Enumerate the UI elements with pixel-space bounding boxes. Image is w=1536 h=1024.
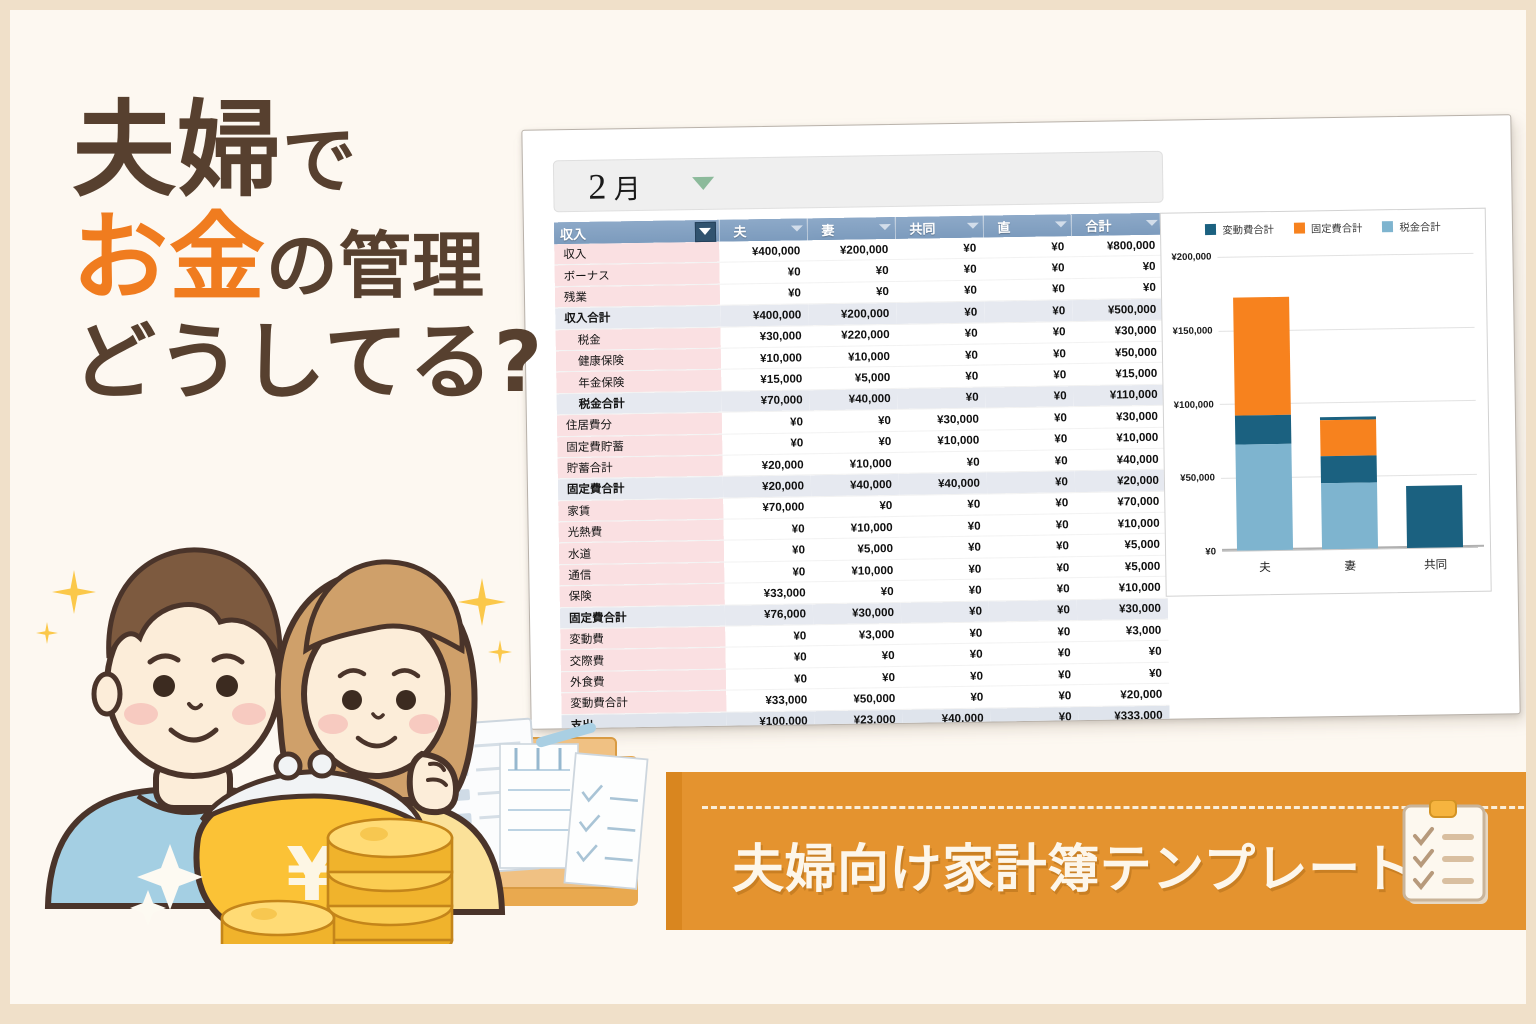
canvas-bottom-edge bbox=[10, 1004, 1526, 1014]
legend-label: 固定費合計 bbox=[1311, 220, 1363, 236]
table-cell-value: ¥3,000 bbox=[1077, 619, 1168, 642]
page-title: 夫婦で お金の管理 どうしてる? bbox=[72, 98, 612, 404]
table-header-cell-wife[interactable]: 妻 bbox=[807, 217, 895, 240]
poster-canvas: 夫婦で お金の管理 どうしてる? 2月 bbox=[10, 10, 1526, 1014]
chevron-down-icon[interactable] bbox=[1054, 221, 1066, 227]
chart-x-tick-label: 夫 bbox=[1259, 559, 1271, 575]
table-cell-value: ¥200,000 bbox=[807, 239, 895, 261]
legend-label: 税金合計 bbox=[1399, 218, 1440, 234]
table-cell-value: ¥15,000 bbox=[721, 368, 809, 391]
table-cell-value: ¥20,000 bbox=[1078, 683, 1169, 706]
table-cell-value: ¥0 bbox=[990, 685, 1078, 708]
table-cell-value: ¥0 bbox=[988, 578, 1076, 601]
table-header-cell-other[interactable]: 直 bbox=[983, 214, 1071, 237]
table-cell-value: ¥0 bbox=[983, 236, 1071, 258]
table-cell-value: ¥33,000 bbox=[726, 689, 814, 712]
table-cell-value: ¥5,000 bbox=[1076, 555, 1167, 578]
table-cell-value: ¥0 bbox=[984, 300, 1072, 323]
table-cell-value: ¥0 bbox=[899, 515, 987, 538]
table-cell-value: ¥400,000 bbox=[720, 304, 808, 327]
table-header-label: 直 bbox=[997, 220, 1010, 235]
table-cell-value: ¥10,000 bbox=[809, 345, 897, 368]
chart-x-tick-label: 妻 bbox=[1344, 558, 1356, 574]
legend-swatch-icon bbox=[1382, 221, 1393, 232]
table-cell-value: ¥0 bbox=[985, 364, 1073, 387]
chart-bar-segment bbox=[1321, 456, 1377, 483]
table-cell-value: ¥30,000 bbox=[1077, 598, 1168, 621]
table-cell-value: ¥0 bbox=[810, 431, 898, 454]
bottom-banner: 夫婦向け家計簿テンプレート bbox=[680, 772, 1526, 930]
table-cell-value: ¥0 bbox=[987, 492, 1075, 515]
table-cell-value: ¥10,000 bbox=[1075, 512, 1166, 535]
chart-y-tick-label: ¥50,000 bbox=[1180, 473, 1215, 485]
chart-bar-segment bbox=[1320, 419, 1377, 457]
table-cell-value: ¥0 bbox=[902, 686, 990, 709]
filter-icon[interactable] bbox=[694, 222, 715, 242]
table-cell-value: ¥30,000 bbox=[720, 325, 808, 348]
table-cell-value: ¥0 bbox=[989, 642, 1077, 665]
table-cell-value: ¥0 bbox=[989, 599, 1077, 622]
chart-bars: 夫妻共同 bbox=[1217, 253, 1478, 551]
table-cell-value: ¥0 bbox=[986, 407, 1074, 430]
table-cell-value: ¥400,000 bbox=[719, 240, 807, 262]
chart-legend: 変動費合計固定費合計税金合計 bbox=[1161, 218, 1485, 238]
table-cell-value: ¥5,000 bbox=[1076, 534, 1167, 557]
table-cell-value: ¥0 bbox=[900, 558, 988, 581]
headline-line2-accent: お金 bbox=[72, 202, 266, 314]
chart-bar-segment bbox=[1321, 482, 1378, 549]
table-cell-value: ¥70,000 bbox=[721, 390, 809, 413]
chevron-down-icon[interactable] bbox=[1145, 220, 1157, 226]
table-cell-value: ¥15,000 bbox=[1073, 363, 1164, 386]
table-cell-value: ¥0 bbox=[897, 344, 985, 367]
table-cell-value: ¥50,000 bbox=[814, 688, 902, 711]
table-cell-value: ¥0 bbox=[722, 411, 810, 434]
table-cell-value: ¥40,000 bbox=[1074, 448, 1165, 471]
table-cell-value: ¥0 bbox=[985, 343, 1073, 366]
table-cell-value: ¥0 bbox=[986, 428, 1074, 451]
month-selector[interactable]: 2月 bbox=[553, 151, 1164, 213]
table-cell-value: ¥0 bbox=[990, 663, 1078, 686]
chart-y-tick-label: ¥0 bbox=[1205, 546, 1216, 557]
table-cell-value: ¥0 bbox=[724, 561, 812, 584]
table-cell-value: ¥40,000 bbox=[899, 472, 987, 495]
table-cell-value: ¥0 bbox=[899, 494, 987, 517]
legend-swatch-icon bbox=[1294, 223, 1305, 234]
table-header-cell-total[interactable]: 合計 bbox=[1071, 213, 1162, 236]
banner-title: 夫婦向け家計簿テンプレート bbox=[732, 827, 1413, 902]
chart-bar-segment bbox=[1233, 297, 1291, 415]
legend-swatch-icon bbox=[1205, 224, 1216, 235]
table-cell-value: ¥0 bbox=[984, 321, 1072, 344]
expense-chart: 変動費合計固定費合計税金合計 ¥0¥50,000¥100,000¥150,000… bbox=[1160, 208, 1492, 597]
table-cell-value: ¥30,000 bbox=[1074, 405, 1165, 428]
table-cell-value: ¥500,000 bbox=[1072, 298, 1163, 321]
chart-bar-column[interactable]: 妻 bbox=[1317, 254, 1378, 549]
headline-line2-rest: の管理 bbox=[266, 224, 485, 308]
table-cell-value: ¥70,000 bbox=[1075, 491, 1166, 514]
chevron-down-icon[interactable] bbox=[790, 225, 802, 231]
chart-legend-item: 固定費合計 bbox=[1294, 220, 1363, 236]
table-cell-value: ¥10,000 bbox=[810, 452, 898, 475]
table-cell-value: ¥0 bbox=[720, 283, 808, 306]
table-cell-value: ¥0 bbox=[988, 535, 1076, 558]
chart-legend-item: 変動費合計 bbox=[1205, 221, 1274, 237]
table-cell-value: ¥30,000 bbox=[813, 602, 901, 625]
table-cell-value: ¥20,000 bbox=[723, 475, 811, 498]
table-cell-value: ¥0 bbox=[901, 622, 989, 645]
table-cell-value: ¥0 bbox=[901, 643, 989, 666]
table-cell-value: ¥0 bbox=[898, 451, 986, 474]
banner-notch bbox=[666, 772, 682, 930]
table-cell-value: ¥0 bbox=[1071, 256, 1162, 279]
table-header-label: 合計 bbox=[1085, 218, 1111, 233]
chart-y-tick-label: ¥100,000 bbox=[1174, 399, 1214, 411]
table-cell-value: ¥0 bbox=[896, 323, 984, 346]
table-cell-value: ¥40,000 bbox=[811, 474, 899, 497]
table-cell-value: ¥30,000 bbox=[1072, 320, 1163, 343]
table-cell-value: ¥0 bbox=[726, 646, 814, 669]
table-cell-value: ¥0 bbox=[985, 385, 1073, 408]
chart-bar-segment bbox=[1235, 444, 1293, 551]
table-cell-value: ¥0 bbox=[724, 539, 812, 562]
table-cell-value: ¥0 bbox=[989, 621, 1077, 644]
chart-bar-segment bbox=[1235, 415, 1291, 445]
table-cell-value: ¥20,000 bbox=[1075, 470, 1166, 493]
table-header-cell-husband[interactable]: 夫 bbox=[719, 218, 807, 241]
table-cell-value: ¥0 bbox=[723, 518, 811, 541]
table-cell-value: ¥0 bbox=[987, 514, 1075, 537]
legend-label: 変動費合計 bbox=[1222, 221, 1274, 237]
table-cell-value: ¥10,000 bbox=[898, 430, 986, 453]
table-row-label: 住居費分 bbox=[557, 412, 722, 436]
table-cell-value: ¥200,000 bbox=[808, 303, 896, 326]
table-cell-value: ¥0 bbox=[1078, 662, 1169, 685]
table-cell-value: ¥76,000 bbox=[725, 603, 813, 626]
table-cell-value: ¥0 bbox=[988, 557, 1076, 580]
table-cell-value: ¥70,000 bbox=[723, 496, 811, 519]
chevron-down-icon[interactable] bbox=[966, 223, 978, 229]
illustration-svg: ¥ bbox=[30, 508, 730, 978]
table-cell-value: ¥10,000 bbox=[812, 559, 900, 582]
table-cell-value: ¥30,000 bbox=[898, 408, 986, 431]
table-cell-value: ¥10,000 bbox=[811, 516, 899, 539]
table-header-cell-shared[interactable]: 共同 bbox=[895, 216, 983, 239]
table-cell-value: ¥0 bbox=[987, 471, 1075, 494]
poster-root: 夫婦で お金の管理 どうしてる? 2月 bbox=[0, 0, 1536, 1024]
table-header-label: 妻 bbox=[821, 222, 834, 237]
chart-bar-column[interactable]: 共同 bbox=[1403, 253, 1464, 548]
table-cell-value: ¥0 bbox=[719, 261, 807, 284]
headline-line1-suffix: で bbox=[282, 118, 357, 204]
table-cell-value: ¥0 bbox=[902, 665, 990, 688]
table-cell-value: ¥0 bbox=[895, 258, 983, 281]
month-unit: 月 bbox=[614, 174, 643, 205]
table-cell-value: ¥0 bbox=[896, 280, 984, 303]
clipboard-checklist-icon bbox=[1402, 800, 1494, 906]
table-cell-value: ¥0 bbox=[811, 495, 899, 518]
table-cell-value: ¥0 bbox=[895, 238, 983, 260]
table-cell-value: ¥5,000 bbox=[812, 538, 900, 561]
chart-legend-item: 税金合計 bbox=[1382, 218, 1440, 234]
chart-y-tick-label: ¥200,000 bbox=[1171, 251, 1211, 263]
chart-bar-segment bbox=[1406, 485, 1463, 548]
table-cell-value: ¥50,000 bbox=[1073, 341, 1164, 364]
table-cell-value: ¥800,000 bbox=[1071, 235, 1162, 257]
table-cell-value: ¥0 bbox=[900, 579, 988, 602]
table-row-label: 固定費貯蓄 bbox=[557, 434, 722, 458]
table-cell-value: ¥10,000 bbox=[1074, 427, 1165, 450]
table-cell-value: ¥0 bbox=[1072, 277, 1163, 300]
headline-line-1: 夫婦で bbox=[72, 98, 612, 202]
table-cell-value: ¥10,000 bbox=[1076, 576, 1167, 599]
table-cell-value: ¥0 bbox=[984, 278, 1072, 301]
table-cell-value: ¥0 bbox=[722, 432, 810, 455]
table-row-label: 貯蓄合計 bbox=[558, 455, 723, 479]
table-cell-value: ¥0 bbox=[807, 260, 895, 283]
chart-plot-area: ¥0¥50,000¥100,000¥150,000¥200,000夫妻共同 bbox=[1217, 253, 1478, 551]
couple-with-money-illustration: ¥ bbox=[30, 508, 730, 978]
table-cell-value: ¥10,000 bbox=[721, 347, 809, 370]
headline-line1-main: 夫婦 bbox=[72, 89, 282, 211]
chart-x-tick-label: 共同 bbox=[1424, 556, 1447, 572]
table-cell-value: ¥0 bbox=[896, 301, 984, 324]
table-cell-value: ¥0 bbox=[897, 387, 985, 410]
table-cell-value: ¥0 bbox=[900, 537, 988, 560]
table-cell-value: ¥20,000 bbox=[722, 454, 810, 477]
table-cell-value: ¥0 bbox=[901, 601, 989, 624]
chevron-down-icon[interactable] bbox=[878, 224, 890, 230]
table-row-label: 固定費合計 bbox=[558, 476, 723, 500]
headline-line-2: お金の管理 bbox=[72, 210, 612, 306]
table-cell-value: ¥220,000 bbox=[808, 324, 896, 347]
table-cell-value: ¥0 bbox=[812, 581, 900, 604]
table-cell-value: ¥0 bbox=[1077, 641, 1168, 664]
table-cell-value: ¥0 bbox=[897, 365, 985, 388]
table-cell-value: ¥0 bbox=[983, 257, 1071, 280]
table-cell-value: ¥0 bbox=[808, 281, 896, 304]
table-cell-value: ¥0 bbox=[986, 450, 1074, 473]
chart-y-tick-label: ¥150,000 bbox=[1172, 325, 1212, 337]
table-cell-value: ¥0 bbox=[810, 410, 898, 433]
table-header-label: 共同 bbox=[909, 221, 935, 236]
table-cell-value: ¥0 bbox=[813, 645, 901, 668]
table-cell-value: ¥110,000 bbox=[1073, 384, 1164, 407]
headline-line-3: どうしてる? bbox=[72, 320, 612, 404]
table-header-label: 夫 bbox=[733, 224, 746, 239]
table-cell-value: ¥33,000 bbox=[724, 582, 812, 605]
table-cell-value: ¥3,000 bbox=[813, 623, 901, 646]
table-cell-value: ¥40,000 bbox=[809, 388, 897, 411]
table-cell-value: ¥0 bbox=[814, 666, 902, 689]
table-cell-value: ¥0 bbox=[725, 625, 813, 648]
filter-dropdown-icon[interactable] bbox=[692, 177, 714, 190]
table-cell-value: ¥0 bbox=[726, 668, 814, 691]
table-cell-value: ¥5,000 bbox=[809, 367, 897, 390]
chart-bar-column[interactable]: 夫 bbox=[1232, 256, 1293, 551]
